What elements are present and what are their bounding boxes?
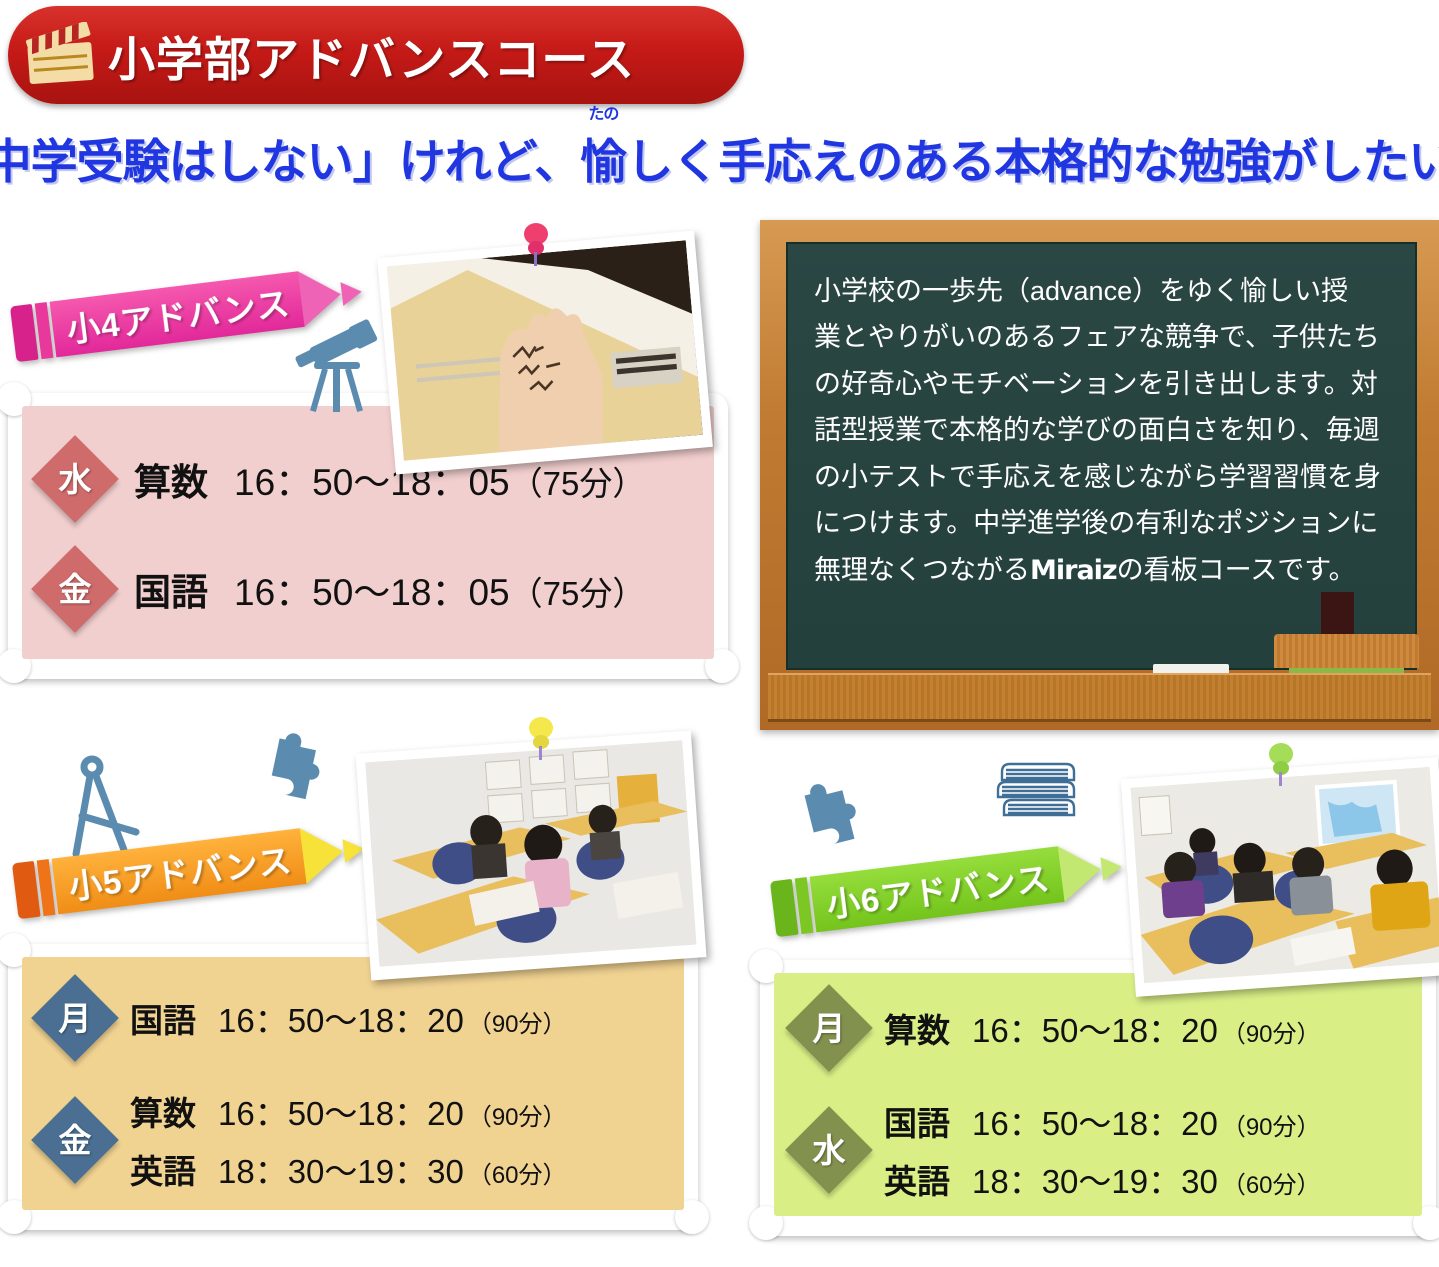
- blackboard-text: 小学校の一歩先（advance）をゆく愉しい授 業とやりがいのあるフェアな競争で…: [814, 268, 1389, 594]
- schedule-inner-grade5: 月 国語 16：50〜18：20 （90分） 金 算数 16：50〜18：20 …: [22, 957, 684, 1210]
- duration-label: （90分）: [1222, 1107, 1321, 1142]
- pushpin-grade4: [521, 222, 551, 268]
- day-label: 水: [59, 463, 92, 496]
- schedule-row: 金 国語 16：50〜18：05 （75分）: [44, 558, 645, 620]
- duration-label: （90分）: [468, 1097, 567, 1132]
- blackboard-line: 小学校の一歩先（advance）をゆく愉しい授: [814, 268, 1389, 314]
- puzzle-piece-icon: [258, 730, 330, 809]
- blackboard-line: 業とやりがいのあるフェアな競争で、子供たち: [814, 314, 1389, 360]
- duration-label: （75分）: [510, 457, 646, 505]
- photo-grade6-image: [1130, 767, 1439, 983]
- course-label-text-grade4: 小4アドバンス: [64, 277, 293, 352]
- day-badge: 金: [31, 1096, 119, 1184]
- blackboard-line: につけます。中学進学後の有利なポジションに: [814, 500, 1389, 546]
- day-label: 金: [59, 573, 92, 606]
- day-badge: 月: [785, 984, 873, 1072]
- blackboard-ledge: [768, 673, 1431, 722]
- blackboard-last-post: の看板コースです。: [1117, 555, 1356, 585]
- brand-name: Miraiz: [1030, 555, 1117, 586]
- photo-grade5-image: [365, 740, 697, 967]
- ruby-reading: たの: [588, 100, 618, 124]
- day-badge: 水: [785, 1106, 873, 1194]
- blackboard-line: 話型授業で本格的な学びの面白さを知り、毎週: [814, 407, 1389, 453]
- blackboard-last-pre: 無理なくつながる: [814, 555, 1030, 585]
- blackboard-line-last: 無理なくつながるMiraizの看板コースです。: [814, 547, 1389, 594]
- time-label: 16：50〜18：20: [218, 994, 464, 1042]
- puzzle-piece-icon: [794, 778, 866, 857]
- duration-label: （90分）: [468, 1004, 567, 1039]
- ruby-base: 愉: [580, 135, 626, 188]
- subject-label: 算数: [884, 1004, 950, 1052]
- time-label: 16：50〜18：20: [218, 1087, 464, 1135]
- time-label: 16：50〜18：20: [972, 1004, 1218, 1052]
- day-label: 金: [59, 1124, 92, 1157]
- subject-label: 国語: [134, 562, 208, 616]
- subject-label: 算数: [134, 452, 208, 506]
- subtitle-text: 「中学受験はしない」けれど、たの愉しく手応えのある本格的な勉強がしたい！: [0, 123, 1439, 192]
- subject-label: 国語: [884, 1097, 950, 1145]
- pushpin-grade5: [526, 716, 556, 762]
- page-header-banner: 小学部アドバンスコース: [8, 6, 744, 104]
- blackboard-line: の小テストで手応えを感じながら学習習慣を身: [814, 454, 1389, 500]
- duration-label: （60分）: [468, 1155, 567, 1190]
- clapperboard-icon: [22, 22, 100, 88]
- schedule-row: 月 国語 16：50〜18：20 （90分）: [44, 987, 567, 1049]
- blackboard: 小学校の一歩先（advance）をゆく愉しい授 業とやりがいのあるフェアな競争で…: [760, 220, 1439, 730]
- page-title: 小学部アドバンスコース: [108, 21, 635, 90]
- course-label-text-grade6: 小6アドバンス: [824, 852, 1053, 927]
- photo-grade6: [1121, 757, 1439, 997]
- day-badge: 月: [31, 974, 119, 1062]
- day-label: 月: [59, 1002, 92, 1035]
- duration-label: （75分）: [510, 567, 646, 615]
- time-label: 16：50〜18：05: [234, 562, 510, 616]
- books-icon: [996, 756, 1080, 823]
- subtitle-part2: しく手応えのある本格的な勉強がしたい！: [626, 135, 1439, 188]
- subject-label: 英語: [884, 1155, 950, 1203]
- schedule-row: 月 算数 16：50〜18：20 （90分）: [798, 997, 1321, 1059]
- day-label: 水: [813, 1134, 846, 1167]
- time-label: 16：50〜18：20: [972, 1097, 1218, 1145]
- duration-label: （90分）: [1222, 1014, 1321, 1049]
- subtitle-row: 「中学受験はしない」けれど、たの愉しく手応えのある本格的な勉強がしたい！: [0, 118, 1439, 196]
- day-badge: 水: [31, 435, 119, 523]
- time-label: 18：30〜19：30: [972, 1155, 1218, 1203]
- subtitle-part1: 「中学受験はしない」けれど、: [0, 135, 580, 188]
- photo-grade5: [355, 731, 706, 981]
- schedule-card-grade6: 月 算数 16：50〜18：20 （90分） 水 国語 16：50〜18：20 …: [760, 960, 1436, 1236]
- day-badge: 金: [31, 545, 119, 633]
- blackboard-line: の好奇心やモチベーションを引き出します。対: [814, 361, 1389, 407]
- schedule-row: 水 国語 16：50〜18：20 （90分） 英語 18：30〜19：30 （6…: [798, 1097, 1321, 1203]
- pushpin-grade6: [1266, 742, 1296, 788]
- schedule-inner-grade6: 月 算数 16：50〜18：20 （90分） 水 国語 16：50〜18：20 …: [774, 973, 1422, 1216]
- photo-grade4-image: [387, 240, 703, 460]
- schedule-card-grade5: 月 国語 16：50〜18：20 （90分） 金 算数 16：50〜18：20 …: [8, 944, 698, 1230]
- schedule-row: 金 算数 16：50〜18：20 （90分） 英語 18：30〜19：30 （6…: [44, 1087, 567, 1193]
- duration-label: （60分）: [1222, 1165, 1321, 1200]
- subject-label: 算数: [130, 1087, 196, 1135]
- lectern-top: [1274, 634, 1419, 668]
- subject-label: 英語: [130, 1145, 196, 1193]
- day-label: 月: [813, 1012, 846, 1045]
- time-label: 18：30〜19：30: [218, 1145, 464, 1193]
- ruby-group: たの愉: [580, 123, 626, 192]
- subject-label: 国語: [130, 994, 196, 1042]
